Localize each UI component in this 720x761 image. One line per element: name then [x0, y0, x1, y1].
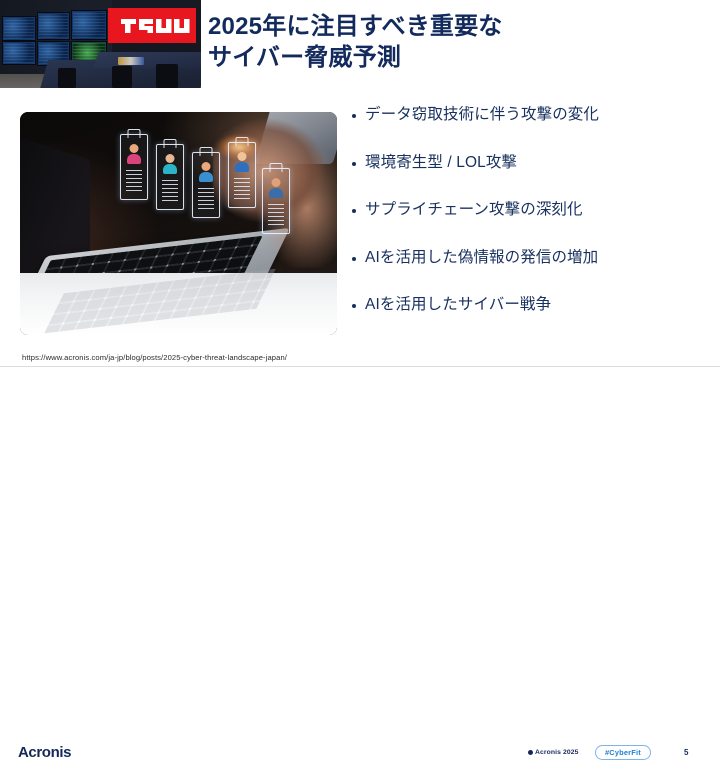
banner-chair [156, 64, 178, 88]
floating-profile-card [262, 168, 290, 234]
threat-prediction-list: データ窃取技術に伴う攻撃の変化 環境寄生型 / LOL攻撃 サプライチェーン攻撃… [352, 106, 708, 344]
avatar-body [199, 172, 213, 182]
list-item-label: AIを活用したサイバー戦争 [365, 296, 551, 315]
banner-monitor [2, 41, 36, 65]
list-item: AIを活用したサイバー戦争 [352, 296, 708, 315]
list-item: 環境寄生型 / LOL攻撃 [352, 154, 708, 173]
list-item-label: AIを活用した偽情報の発信の増加 [365, 249, 598, 268]
page-number: 5 [684, 748, 688, 757]
clipboard-clip-icon [270, 163, 283, 172]
banner-monitor [71, 10, 107, 40]
copyright-notice: Acronis 2025 [528, 749, 579, 756]
clipboard-clip-icon [200, 147, 213, 156]
avatar-body [235, 162, 249, 172]
bullet-dot-icon [352, 162, 356, 166]
acronis-logo: Acronis [18, 744, 71, 761]
list-item: AIを活用した偽情報の発信の増加 [352, 249, 708, 268]
bullet-dot-icon [352, 257, 356, 261]
slide-footer: Acronis Acronis 2025 #CyberFit 5 [0, 367, 720, 405]
list-item-label: 環境寄生型 / LOL攻撃 [365, 154, 517, 173]
copyright-icon [528, 750, 533, 755]
floating-profile-card [192, 152, 220, 218]
banner-chair [112, 66, 132, 88]
banner-desk-objects [118, 57, 144, 65]
avatar [202, 162, 211, 171]
card-text-lines [268, 203, 284, 225]
page-title: 2025年に注目すべき重要な サイバー脅威予測 [208, 11, 708, 73]
clipboard-clip-icon [164, 139, 177, 148]
avatar [166, 154, 175, 163]
banner-monitor [37, 12, 70, 40]
tru-red-logo [108, 8, 196, 43]
avatar [238, 152, 247, 161]
copyright-label: Acronis 2025 [535, 749, 579, 756]
hero-image-laptop-profile-cards [20, 112, 337, 335]
avatar-body [127, 154, 141, 164]
avatar [272, 178, 281, 187]
floating-profile-card [156, 144, 184, 210]
keyboard-reflection [44, 269, 275, 334]
bullet-dot-icon [352, 114, 356, 118]
banner-monitor [2, 16, 36, 41]
avatar-body [269, 188, 283, 198]
bullet-dot-icon [352, 304, 356, 308]
hero-surface-reflection [20, 273, 337, 335]
card-text-lines [234, 177, 250, 199]
avatar-body [163, 164, 177, 174]
slide: 2025年に注目すべき重要な サイバー脅威予測 [0, 0, 720, 405]
avatar [130, 144, 139, 153]
list-item-label: データ窃取技術に伴う攻撃の変化 [365, 106, 599, 125]
floating-profile-card [120, 134, 148, 200]
card-text-lines [162, 179, 178, 201]
source-url[interactable]: https://www.acronis.com/ja-jp/blog/posts… [22, 353, 287, 362]
cyberfit-badge: #CyberFit [595, 745, 651, 760]
clipboard-clip-icon [236, 137, 249, 146]
clipboard-clip-icon [128, 129, 141, 138]
list-item: サプライチェーン攻撃の深刻化 [352, 201, 708, 220]
tru-logo-mark-icon [108, 8, 196, 43]
banner-conference-table [93, 52, 201, 68]
card-text-lines [198, 187, 214, 209]
list-item: データ窃取技術に伴う攻撃の変化 [352, 106, 708, 125]
card-text-lines [126, 169, 142, 191]
banner-chair [58, 68, 76, 88]
list-item-label: サプライチェーン攻撃の深刻化 [365, 201, 583, 220]
floating-profile-card [228, 142, 256, 208]
bullet-dot-icon [352, 209, 356, 213]
